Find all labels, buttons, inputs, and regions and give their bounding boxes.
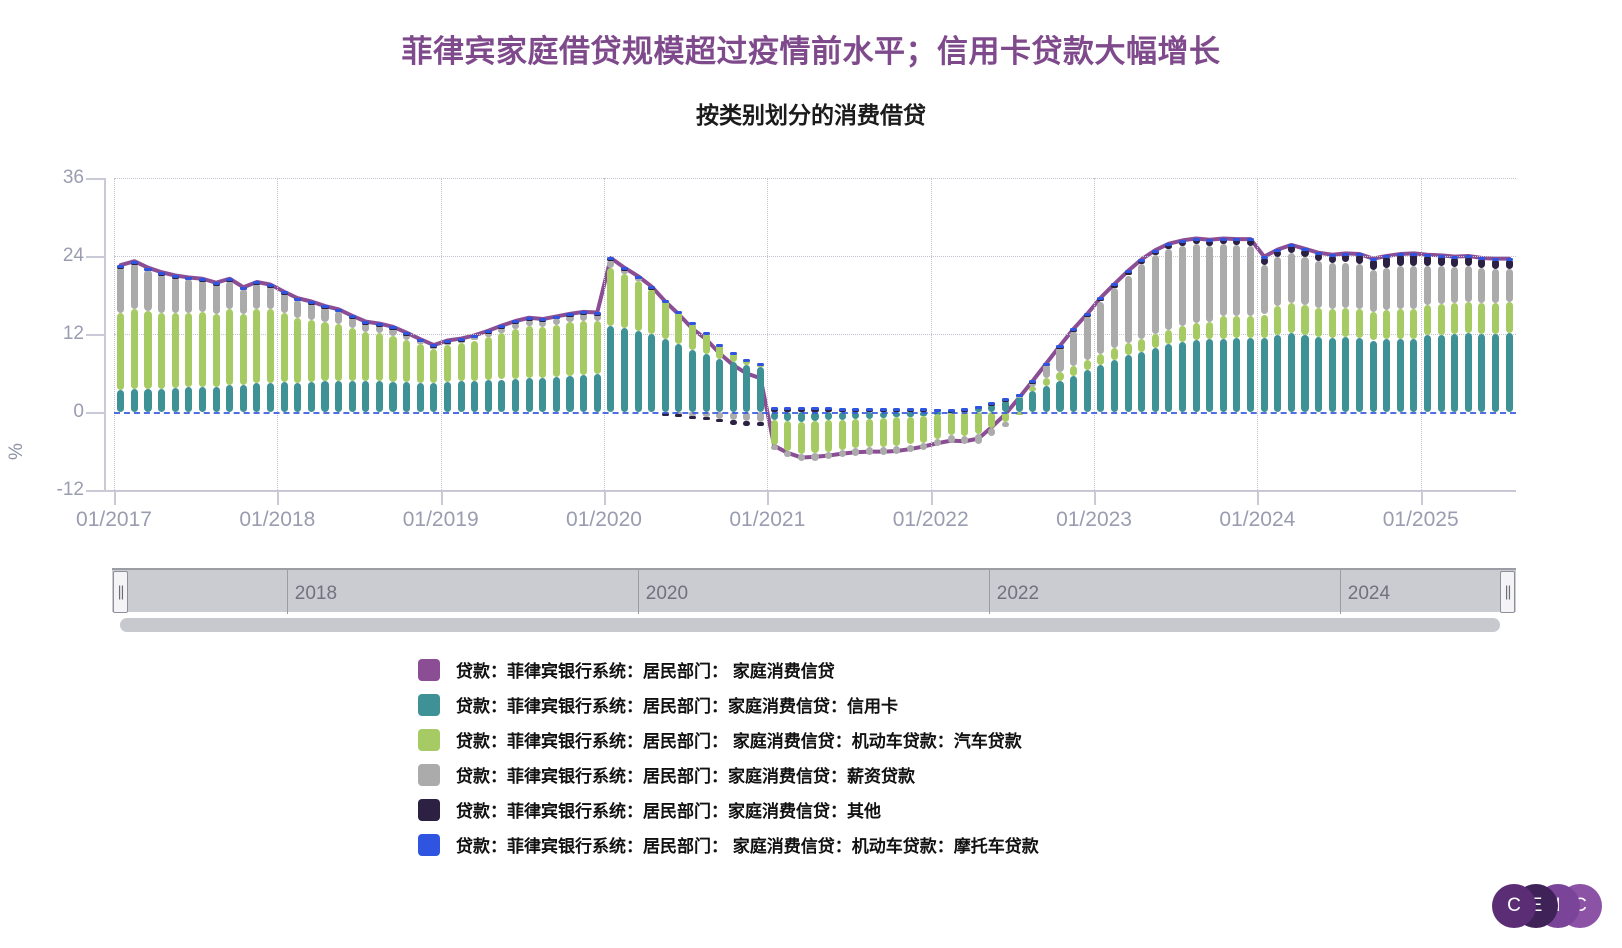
bar-column[interactable] (689, 178, 696, 490)
x-axis-tick-mark (604, 492, 606, 505)
bar-column[interactable] (362, 178, 369, 490)
bar-segment (675, 311, 682, 314)
y-axis-tick-labels: 3624120-12 (26, 160, 84, 520)
bar-segment (1056, 347, 1063, 372)
bar-segment (1220, 316, 1227, 338)
bar-segment (1179, 326, 1186, 342)
bar-column[interactable] (1356, 178, 1363, 490)
bar-segment (866, 447, 873, 455)
bar-segment (1478, 303, 1485, 334)
bar-segment (158, 272, 165, 275)
bar-segment (1274, 249, 1281, 252)
bar-segment (1410, 309, 1417, 339)
bar-column[interactable] (1465, 178, 1472, 490)
bar-segment (199, 278, 206, 281)
bar-column[interactable] (1342, 178, 1349, 490)
x-axis-ticks: 01/201701/201801/201901/202001/202101/20… (114, 492, 1516, 506)
bar-column[interactable] (553, 178, 560, 490)
bar-segment (1301, 335, 1308, 412)
bar-segment (1043, 363, 1050, 366)
bar-segment (1342, 308, 1349, 337)
bar-column[interactable] (1424, 178, 1431, 490)
bar-column[interactable] (1478, 178, 1485, 490)
y-axis-line (104, 178, 106, 490)
bar-segment (1111, 348, 1118, 360)
bar-segment (471, 335, 478, 338)
x-axis-tick-label: 01/2021 (729, 508, 805, 532)
bar-segment (226, 385, 233, 412)
bar-segment (1506, 269, 1513, 302)
bar-segment (131, 309, 138, 389)
bar-column[interactable] (1438, 178, 1445, 490)
bar-segment (1506, 302, 1513, 333)
bar-column[interactable] (1029, 178, 1036, 490)
vertical-gridline (114, 178, 115, 490)
bar-segment (1261, 315, 1268, 338)
bar-column[interactable] (866, 178, 873, 490)
bar-column[interactable] (662, 178, 669, 490)
bar-column[interactable] (1002, 178, 1009, 490)
bar-column[interactable] (703, 178, 710, 490)
bar-segment (1165, 249, 1172, 330)
bar-column[interactable] (403, 178, 410, 490)
bar-segment (1424, 266, 1431, 305)
x-axis-tick-label: 01/2019 (403, 508, 479, 532)
bar-column[interactable] (1193, 178, 1200, 490)
bar-column[interactable] (131, 178, 138, 490)
bar-segment (294, 298, 301, 301)
bar-segment (866, 419, 873, 448)
bar-segment (1288, 303, 1295, 333)
bar-column[interactable] (444, 178, 451, 490)
x-axis-tick-label: 01/2025 (1383, 508, 1459, 532)
bar-segment (267, 309, 274, 382)
bar-segment (498, 333, 505, 380)
bar-segment (703, 332, 710, 335)
ceic-logo-letter: C (1492, 884, 1536, 928)
bar-segment (798, 422, 805, 455)
bar-segment (131, 261, 138, 264)
bar-segment (607, 326, 614, 412)
range-navigator[interactable]: 2018202020222024|||| (112, 568, 1516, 612)
legend-color-swatch (418, 659, 440, 681)
bar-segment (349, 328, 356, 381)
bar-column[interactable] (512, 178, 519, 490)
bar-column[interactable] (308, 178, 315, 490)
bar-segment (1206, 246, 1213, 321)
bar-segment (362, 332, 369, 381)
chart-canvas[interactable] (114, 178, 1516, 490)
bar-segment (975, 406, 982, 409)
bar-segment (1206, 322, 1213, 340)
bar-segment (621, 328, 628, 412)
bar-segment (144, 311, 151, 389)
bar-column[interactable] (839, 178, 846, 490)
bar-segment (1193, 323, 1200, 340)
navigator-handle-right[interactable]: || (1500, 571, 1515, 613)
bar-segment (1070, 331, 1077, 366)
bar-column[interactable] (526, 178, 533, 490)
bar-segment (1356, 253, 1363, 256)
bar-segment (607, 268, 614, 326)
bar-column[interactable] (1329, 178, 1336, 490)
y-axis-tick-label: 12 (26, 323, 84, 345)
bar-segment (1301, 257, 1308, 305)
navigator-divider (287, 570, 288, 614)
bar-column[interactable] (144, 178, 151, 490)
chart-subtitle: 按类别划分的消费借贷 (0, 96, 1622, 130)
x-axis-tick-mark (277, 492, 279, 505)
bar-column[interactable] (784, 178, 791, 490)
bar-segment (1424, 305, 1431, 336)
zero-baseline (114, 412, 1516, 414)
bar-column[interactable] (1370, 178, 1377, 490)
bar-column[interactable] (1315, 178, 1322, 490)
horizontal-scrollbar[interactable] (120, 618, 1500, 632)
bar-column[interactable] (498, 178, 505, 490)
bar-segment (811, 421, 818, 453)
bar-segment (1410, 339, 1417, 412)
bar-segment (580, 375, 587, 412)
bar-segment (635, 276, 642, 279)
bar-segment (1179, 342, 1186, 412)
bar-segment (471, 381, 478, 412)
bar-column[interactable] (417, 178, 424, 490)
bar-column[interactable] (335, 178, 342, 490)
legend-item[interactable]: 贷款：菲律宾银行系统：居民部门： 家庭消费信贷：机动车贷款：摩托车贷款 (0, 827, 1622, 862)
bar-segment (430, 349, 437, 383)
bar-column[interactable] (635, 178, 642, 490)
navigator-handle-grip-icon: || (118, 585, 124, 600)
bar-column[interactable] (1506, 178, 1513, 490)
bar-column[interactable] (1206, 178, 1213, 490)
bar-segment (961, 412, 968, 436)
bar-column[interactable] (539, 178, 546, 490)
bar-column[interactable] (893, 178, 900, 490)
y-axis-tick-mark (86, 334, 104, 336)
bar-segment (880, 447, 887, 455)
bar-column[interactable] (594, 178, 601, 490)
bar-column[interactable] (811, 178, 818, 490)
legend-color-swatch (418, 799, 440, 821)
legend-color-swatch (418, 729, 440, 751)
bar-segment (1397, 266, 1404, 308)
bar-column[interactable] (907, 178, 914, 490)
bar-column[interactable] (920, 178, 927, 490)
bar-column[interactable] (988, 178, 995, 490)
bar-segment (144, 389, 151, 412)
bar-segment (1084, 313, 1091, 316)
bar-column[interactable] (757, 178, 764, 490)
bar-column[interactable] (1220, 178, 1227, 490)
bar-segment (730, 362, 737, 412)
legend-item[interactable]: 贷款：菲律宾银行系统：居民部门： 家庭消费信贷 (0, 652, 1622, 687)
bar-column[interactable] (471, 178, 478, 490)
bar-segment (321, 305, 328, 308)
bar-segment (648, 334, 655, 412)
legend-item[interactable]: 贷款：菲律宾银行系统：居民部门： 家庭消费信贷：机动车贷款：汽车贷款 (0, 722, 1622, 757)
bar-column[interactable] (961, 178, 968, 490)
bar-column[interactable] (1111, 178, 1118, 490)
bar-column[interactable] (771, 178, 778, 490)
bar-segment (703, 333, 710, 354)
bar-column[interactable] (294, 178, 301, 490)
bar-segment (1002, 398, 1009, 401)
bar-segment (920, 443, 927, 450)
bar-column[interactable] (158, 178, 165, 490)
bar-segment (158, 389, 165, 412)
bar-segment (907, 445, 914, 453)
bar-segment (1261, 338, 1268, 412)
bar-column[interactable] (376, 178, 383, 490)
bar-segment (648, 289, 655, 335)
bar-segment (689, 323, 696, 350)
bar-segment (117, 390, 124, 412)
bar-segment (1451, 256, 1458, 259)
y-axis-tick-label: 0 (26, 401, 84, 423)
bar-segment (485, 330, 492, 333)
bar-column[interactable] (1233, 178, 1240, 490)
bar-column[interactable] (281, 178, 288, 490)
bar-segment (907, 408, 914, 411)
y-axis-tick-mark (86, 490, 104, 492)
bar-column[interactable] (1056, 178, 1063, 490)
bar-column[interactable] (621, 178, 628, 490)
bar-segment (771, 420, 778, 445)
bar-column[interactable] (716, 178, 723, 490)
bar-column[interactable] (1138, 178, 1145, 490)
bar-segment (172, 313, 179, 388)
bar-segment (1492, 269, 1499, 303)
bar-segment (335, 309, 342, 312)
bar-segment (866, 408, 873, 411)
bar-column[interactable] (1274, 178, 1281, 490)
bar-column[interactable] (1383, 178, 1390, 490)
bar-column[interactable] (607, 178, 614, 490)
bar-column[interactable] (743, 178, 750, 490)
bar-column[interactable] (1451, 178, 1458, 490)
bar-segment (267, 383, 274, 412)
bar-segment (1097, 365, 1104, 412)
bar-segment (961, 408, 968, 411)
bar-column[interactable] (580, 178, 587, 490)
bar-segment (389, 336, 396, 382)
bar-segment (321, 381, 328, 412)
bar-segment (185, 279, 192, 313)
bar-segment (539, 327, 546, 378)
bar-segment (458, 381, 465, 412)
bar-segment (172, 277, 179, 313)
bar-segment (539, 378, 546, 412)
bar-segment (131, 389, 138, 412)
bar-segment (743, 421, 750, 426)
bar-segment (1220, 339, 1227, 412)
bar-column[interactable] (1247, 178, 1254, 490)
bar-segment (716, 359, 723, 412)
bar-column[interactable] (566, 178, 573, 490)
navigator-track[interactable]: 2018202020222024|||| (112, 568, 1516, 612)
bar-segment (458, 338, 465, 341)
bar-segment (1247, 338, 1254, 412)
bar-segment (1451, 303, 1458, 334)
bar-column[interactable] (321, 178, 328, 490)
bar-segment (1465, 302, 1472, 333)
bar-segment (131, 263, 138, 309)
bar-segment (321, 322, 328, 381)
bar-segment (1397, 339, 1404, 412)
bar-segment (1492, 303, 1499, 334)
bar-segment (1179, 246, 1186, 327)
bar-column[interactable] (1165, 178, 1172, 490)
bar-column[interactable] (1125, 178, 1132, 490)
legend-item[interactable]: 贷款：菲律宾银行系统：居民部门：家庭消费信贷：其他 (0, 792, 1622, 827)
bar-segment (934, 414, 941, 439)
x-axis-tick-mark (767, 492, 769, 505)
bar-segment (458, 343, 465, 381)
bar-segment (226, 309, 233, 385)
vertical-gridline (604, 178, 605, 490)
bar-column[interactable] (1152, 178, 1159, 490)
bar-column[interactable] (852, 178, 859, 490)
bar-segment (308, 303, 315, 320)
navigator-handle-left[interactable]: || (113, 571, 128, 613)
legend-item[interactable]: 贷款：菲律宾银行系统：居民部门：家庭消费信贷：信用卡 (0, 687, 1622, 722)
bar-segment (294, 318, 301, 382)
bar-segment (417, 339, 424, 342)
bar-column[interactable] (213, 178, 220, 490)
bar-column[interactable] (1397, 178, 1404, 490)
legend-item-label: 贷款：菲律宾银行系统：居民部门：家庭消费信贷：薪资贷款 (456, 762, 915, 787)
bar-segment (240, 289, 247, 314)
bar-segment (1329, 263, 1336, 309)
bar-segment (961, 436, 968, 444)
bar-column[interactable] (1070, 178, 1077, 490)
bar-segment (1138, 352, 1145, 412)
bar-column[interactable] (1097, 178, 1104, 490)
bar-segment (675, 311, 682, 344)
bar-segment (1247, 246, 1254, 316)
bar-column[interactable] (675, 178, 682, 490)
bar-column[interactable] (1301, 178, 1308, 490)
bar-segment (117, 313, 124, 390)
bar-segment (349, 315, 356, 318)
bar-column[interactable] (185, 178, 192, 490)
bar-segment (417, 383, 424, 412)
bar-segment (1397, 309, 1404, 339)
bar-segment (1152, 334, 1159, 348)
bar-segment (240, 314, 247, 385)
bar-segment (199, 387, 206, 412)
bar-column[interactable] (267, 178, 274, 490)
bar-column[interactable] (199, 178, 206, 490)
bar-segment (281, 291, 288, 294)
bar-segment (635, 281, 642, 331)
bar-column[interactable] (880, 178, 887, 490)
bar-column[interactable] (253, 178, 260, 490)
bar-segment (1329, 338, 1336, 412)
bar-segment (226, 281, 233, 310)
y-axis-tick-mark (86, 256, 104, 258)
bar-segment (1193, 340, 1200, 412)
bar-segment (444, 382, 451, 412)
bar-segment (1397, 253, 1404, 256)
bar-segment (1193, 238, 1200, 241)
bar-column[interactable] (349, 178, 356, 490)
bar-column[interactable] (117, 178, 124, 490)
bar-column[interactable] (1043, 178, 1050, 490)
bar-column[interactable] (648, 178, 655, 490)
bar-column[interactable] (1410, 178, 1417, 490)
bar-column[interactable] (730, 178, 737, 490)
x-axis-tick-label: 01/2022 (893, 508, 969, 532)
horizontal-gridline (114, 490, 1516, 491)
x-axis-tick-mark (114, 492, 116, 505)
bar-segment (185, 277, 192, 280)
bar-column[interactable] (1288, 178, 1295, 490)
bar-segment (689, 322, 696, 325)
bar-segment (308, 301, 315, 304)
navigator-year-label: 2022 (997, 583, 1039, 605)
bar-segment (689, 416, 696, 419)
bar-segment (185, 313, 192, 387)
bar-segment (1342, 253, 1349, 256)
bar-column[interactable] (948, 178, 955, 490)
bar-column[interactable] (1084, 178, 1091, 490)
bar-segment (1315, 337, 1322, 412)
bar-segment (1070, 366, 1077, 376)
bar-column[interactable] (172, 178, 179, 490)
bar-column[interactable] (825, 178, 832, 490)
bar-segment (1288, 333, 1295, 412)
bar-segment (594, 321, 601, 374)
bar-column[interactable] (389, 178, 396, 490)
bar-segment (1220, 238, 1227, 241)
legend-item-label: 贷款：菲律宾银行系统：居民部门： 家庭消费信贷：机动车贷款：汽车贷款 (456, 727, 1022, 752)
bar-segment (1111, 360, 1118, 412)
bar-column[interactable] (1492, 178, 1499, 490)
bar-column[interactable] (485, 178, 492, 490)
bar-segment (975, 412, 982, 434)
bar-column[interactable] (430, 178, 437, 490)
bar-segment (1356, 338, 1363, 412)
bar-segment (1301, 305, 1308, 334)
navigator-divider (989, 570, 990, 614)
bar-column[interactable] (1261, 178, 1268, 490)
bar-segment (1125, 343, 1132, 355)
bar-column[interactable] (1016, 178, 1023, 490)
bar-segment (117, 267, 124, 313)
bar-segment (362, 381, 369, 412)
bar-column[interactable] (458, 178, 465, 490)
bar-segment (1451, 267, 1458, 303)
bar-column[interactable] (798, 178, 805, 490)
bar-column[interactable] (975, 178, 982, 490)
bar-segment (771, 407, 778, 410)
bar-column[interactable] (934, 178, 941, 490)
bar-segment (893, 446, 900, 454)
bar-segment (1220, 244, 1227, 317)
bar-column[interactable] (226, 178, 233, 490)
bar-segment (1084, 370, 1091, 412)
bar-segment (1165, 344, 1172, 412)
bar-column[interactable] (240, 178, 247, 490)
legend-item[interactable]: 贷款：菲律宾银行系统：居民部门：家庭消费信贷：薪资贷款 (0, 757, 1622, 792)
bar-segment (730, 420, 737, 425)
bar-segment (566, 322, 573, 375)
bar-segment (1043, 364, 1050, 378)
bar-segment (117, 265, 124, 268)
bar-column[interactable] (1179, 178, 1186, 490)
